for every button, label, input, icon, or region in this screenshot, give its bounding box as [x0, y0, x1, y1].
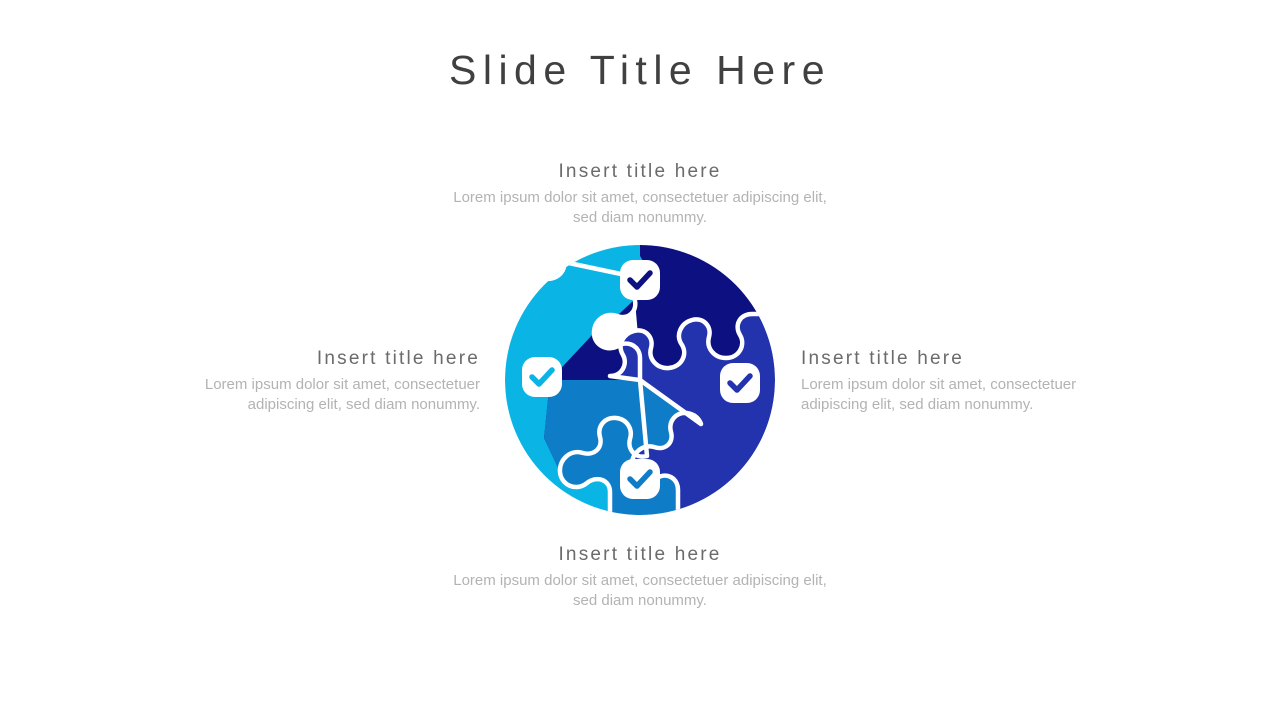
jigsaw-puzzle-svg	[500, 240, 780, 520]
callout-left: Insert title here Lorem ipsum dolor sit …	[135, 347, 480, 414]
check-badge-left[interactable]	[522, 357, 562, 397]
check-badge-right[interactable]	[720, 363, 760, 403]
callout-top-title: Insert title here	[440, 160, 840, 184]
callout-left-title: Insert title here	[135, 347, 480, 371]
slide-canvas: Slide Title Here Insert title here Lorem…	[0, 0, 1280, 720]
callout-bottom-body: Lorem ipsum dolor sit amet, consectetuer…	[440, 571, 840, 610]
callout-left-body: Lorem ipsum dolor sit amet, consectetuer…	[135, 375, 480, 414]
check-badge-bottom[interactable]	[620, 459, 660, 499]
jigsaw-puzzle-diagram	[500, 240, 780, 520]
callout-right: Insert title here Lorem ipsum dolor sit …	[801, 347, 1146, 414]
callout-right-title: Insert title here	[801, 347, 1146, 371]
callout-top-body: Lorem ipsum dolor sit amet, consectetuer…	[440, 188, 840, 227]
callout-bottom-title: Insert title here	[440, 543, 840, 567]
callout-top: Insert title here Lorem ipsum dolor sit …	[440, 160, 840, 227]
callout-right-body: Lorem ipsum dolor sit amet, consectetuer…	[801, 375, 1146, 414]
page-title: Slide Title Here	[0, 44, 1280, 96]
check-badge-top[interactable]	[620, 260, 660, 300]
callout-bottom: Insert title here Lorem ipsum dolor sit …	[440, 543, 840, 610]
